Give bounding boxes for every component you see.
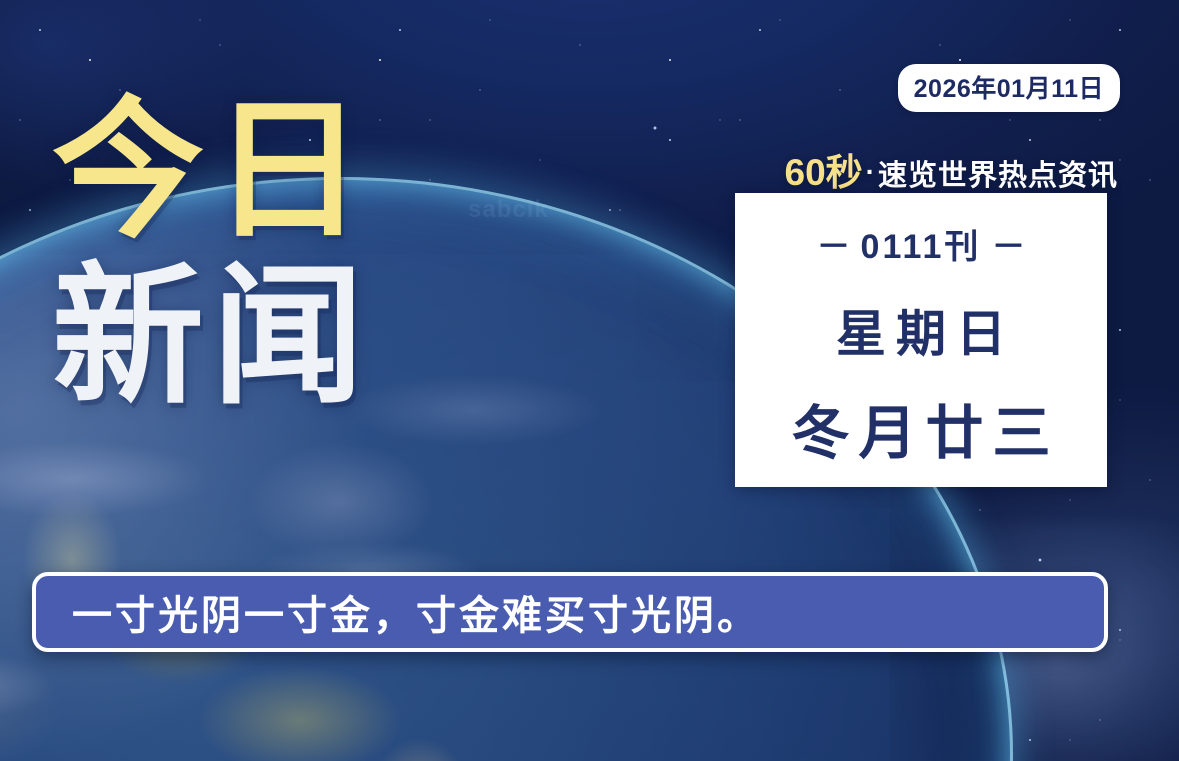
issue-dash-left: － (807, 228, 861, 266)
headline: 今日 新闻 (52, 96, 472, 413)
card-lunar-date: 冬月廿三 (782, 386, 1059, 470)
news-poster: sabcik 今日 新闻 2026年01月11日 60秒·速览世界热点资讯 －0… (0, 0, 1179, 761)
tagline-duration: 60秒 (785, 152, 863, 193)
info-card: －0111刊－ 星期日 冬月廿三 (735, 193, 1107, 487)
tagline: 60秒·速览世界热点资讯 (785, 142, 1119, 196)
tagline-description: 速览世界热点资讯 (878, 160, 1118, 192)
issue-dash-right: － (981, 228, 1035, 266)
card-issue-row: －0111刊－ (807, 219, 1036, 268)
quote-text: 一寸光阴一寸金，寸金难买寸光阴。 (36, 583, 760, 641)
date-badge: 2026年01月11日 (898, 64, 1120, 112)
quote-bar: 一寸光阴一寸金，寸金难买寸光阴。 (32, 572, 1108, 652)
tagline-separator: · (863, 156, 878, 187)
issue-number: 0111刊 (861, 228, 982, 266)
card-weekday: 星期日 (826, 294, 1016, 366)
headline-line-today: 今日 (52, 96, 472, 246)
headline-line-news: 新闻 (52, 262, 472, 412)
watermark: sabcik (468, 196, 549, 224)
